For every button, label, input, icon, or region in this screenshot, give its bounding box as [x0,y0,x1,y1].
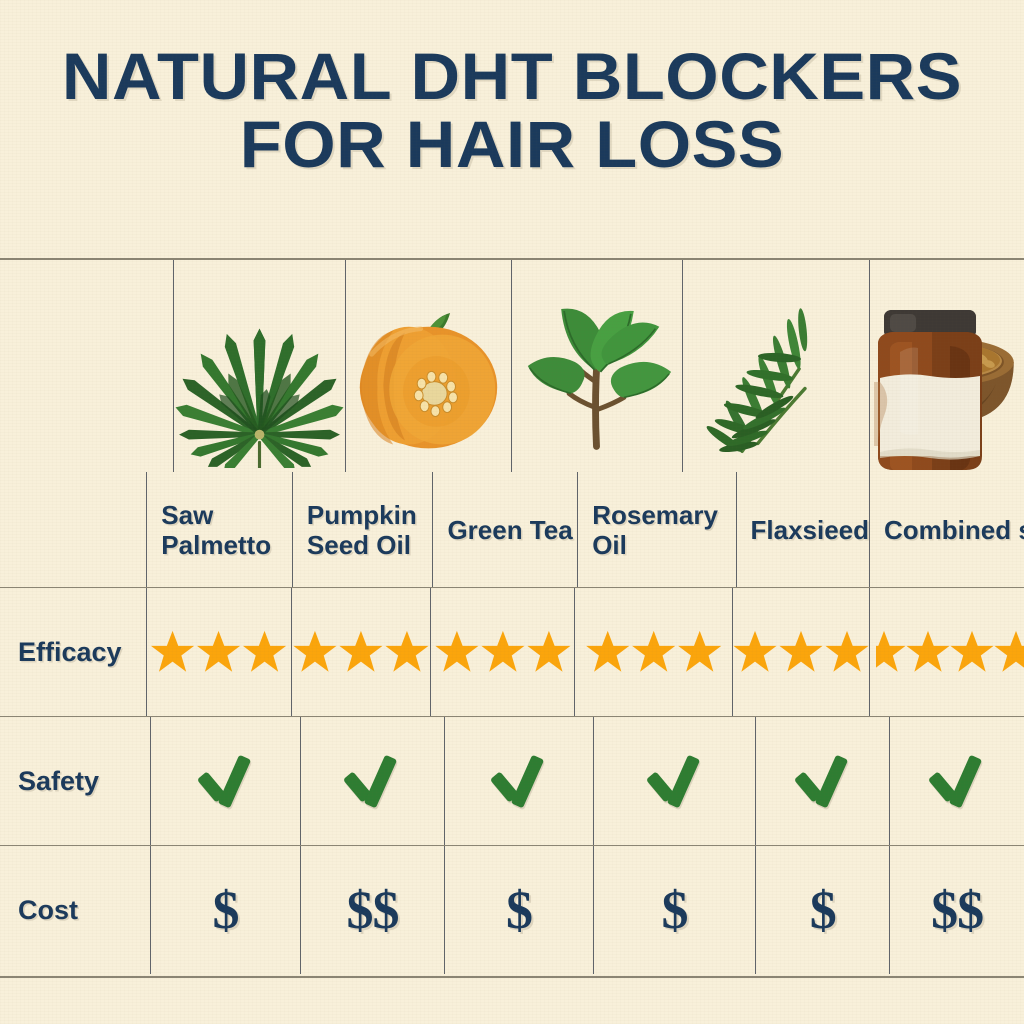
page-title: NATURAL DHT BLOCKERS FOR HAIR LOSS [0,42,1024,178]
title-line-2: FOR HAIR LOSS [0,110,1024,178]
product-name-cell-6: Combined supplement [870,472,1024,587]
row-label-safety: Safety [0,766,150,797]
check-icon [644,755,706,807]
image-cell-pumpkin-seed-oil [346,260,512,472]
star-icon [293,630,337,674]
image-cell-saw-palmetto [174,260,346,472]
product-name-cell-4: Rosemary Oil [578,472,736,587]
star-rating-combined-supplement [876,630,1024,674]
star-icon [339,630,383,674]
table-row-efficacy: Efficacy [0,588,1024,717]
safety-cell-pumpkin-seed-oil [301,717,445,845]
cost-cell-green-tea: $ [445,846,594,974]
star-icon [197,630,241,674]
row-label-efficacy: Efficacy [0,637,146,668]
safety-cell-flaxseed [756,717,890,845]
supplement-bottle-icon [870,258,1024,470]
star-icon [435,630,479,674]
row-label-corner [0,472,147,587]
tea-leaves-icon [512,260,682,468]
cost-value-saw-palmetto: $ [213,883,239,937]
check-icon [792,755,854,807]
cost-value-combined-supplement: $$ [931,883,983,937]
cost-value-flaxseed: $ [810,883,836,937]
star-icon [733,630,777,674]
cost-cell-saw-palmetto: $ [151,846,301,974]
cost-value-pumpkin-seed-oil: $$ [346,883,398,937]
efficacy-cell-saw-palmetto [147,588,292,716]
cost-value-rosemary-oil: $ [662,883,688,937]
check-icon [341,755,403,807]
title-line-1: NATURAL DHT BLOCKERS [0,42,1024,110]
star-icon [906,630,950,674]
star-icon [994,630,1024,674]
product-name-pumpkin-seed-oil: Pumpkin Seed Oil [293,500,433,560]
image-cell-green-tea [512,260,683,472]
safety-cell-saw-palmetto [151,717,301,845]
efficacy-cell-flaxseed [733,588,870,716]
safety-cell-combined-supplement [890,717,1024,845]
efficacy-cell-green-tea [431,588,575,716]
image-cell-combined-supplement [870,258,1024,470]
palmetto-frond-icon [174,260,345,468]
cost-cell-combined-supplement: $$ [890,846,1024,974]
star-icon [481,630,525,674]
efficacy-cell-combined-supplement [870,588,1024,716]
star-icon [385,630,429,674]
star-icon [825,630,869,674]
safety-cell-rosemary-oil [594,717,757,845]
star-icon [950,630,994,674]
cost-cell-pumpkin-seed-oil: $$ [301,846,445,974]
product-name-cell-2: Pumpkin Seed Oil [293,472,434,587]
cost-value-green-tea: $ [506,883,532,937]
product-name-combined-supplement: Combined supplement [870,515,1024,545]
cost-cell-rosemary-oil: $ [594,846,757,974]
row-label-cost: Cost [0,895,150,926]
row-label-safety-cell: Safety [0,717,151,845]
safety-cell-green-tea [445,717,594,845]
rosemary-sprig-icon [683,260,869,468]
star-icon [876,630,906,674]
table-row-product-names: Saw Palmetto Pumpkin Seed Oil Green Tea … [0,472,1024,588]
product-name-cell-3: Green Tea [433,472,578,587]
star-icon [243,630,287,674]
star-rating-saw-palmetto [147,630,291,674]
row-label-cost-cell: Cost [0,846,151,974]
table-corner-cell [0,260,174,472]
efficacy-cell-pumpkin-seed-oil [292,588,432,716]
star-rating-flaxseed [733,630,869,674]
star-rating-green-tea [431,630,574,674]
efficacy-cell-rosemary-oil [575,588,733,716]
product-name-saw-palmetto: Saw Palmetto [147,500,292,560]
row-label-efficacy-cell: Efficacy [0,588,147,716]
star-icon [678,630,722,674]
product-name-flaxseed: Flaxsieed [737,515,870,545]
pumpkin-icon [346,260,511,468]
product-name-green-tea: Green Tea [433,515,577,545]
image-cell-rosemary-oil [683,260,870,472]
star-icon [779,630,823,674]
check-icon [926,755,988,807]
product-name-cell-1: Saw Palmetto [147,472,293,587]
star-rating-rosemary-oil [575,630,732,674]
check-icon [195,755,257,807]
star-rating-pumpkin-seed-oil [292,630,431,674]
cost-cell-flaxseed: $ [756,846,890,974]
check-icon [488,755,550,807]
table-row-safety: Safety [0,717,1024,846]
table-row-cost: Cost $ $$ $ $ $ $$ [0,846,1024,974]
star-icon [527,630,571,674]
product-name-rosemary-oil: Rosemary Oil [578,500,735,560]
star-icon [632,630,676,674]
star-icon [151,630,195,674]
star-icon [586,630,630,674]
product-name-cell-5: Flaxsieed [737,472,871,587]
